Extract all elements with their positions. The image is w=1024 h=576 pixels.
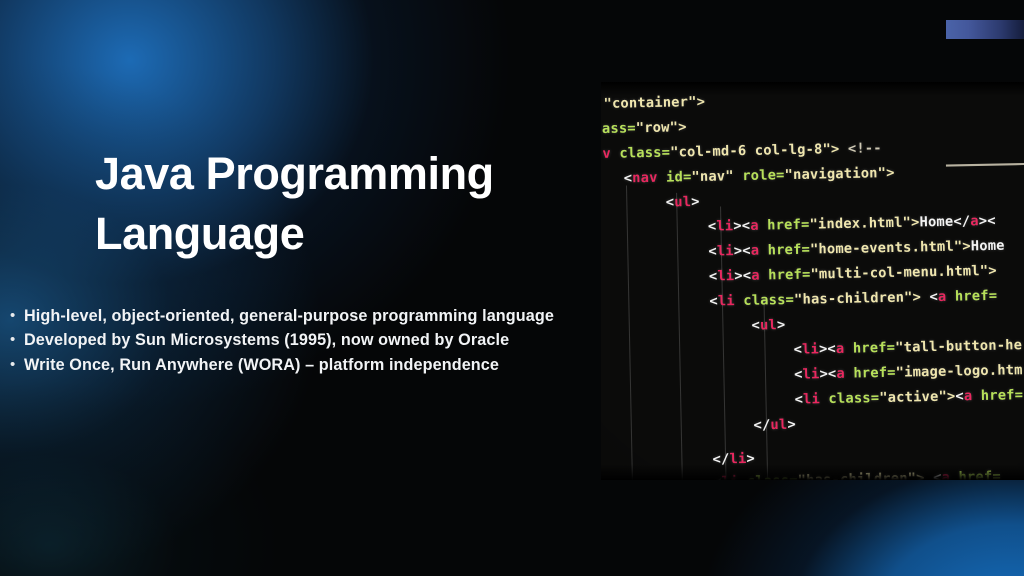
code-line: <ul>: [751, 318, 785, 334]
code-line: <li class="has-children"> <a href=: [709, 288, 997, 309]
code-token: <: [933, 470, 942, 480]
code-token: ul: [674, 195, 691, 211]
code-token: ><: [734, 243, 751, 259]
accent-bar-top-right: [946, 20, 1024, 39]
code-token: li: [721, 474, 747, 480]
code-line: <li><a href="index.html">Home</a><: [708, 213, 996, 234]
code-token: "home-events.html">: [810, 239, 971, 258]
code-line: <li><a href="tall-button-he: [793, 338, 1022, 358]
code-token: "image-logo.htm: [896, 363, 1023, 381]
code-line: <li class="has-children"> <a href=: [713, 469, 1001, 480]
bullet-item: •Developed by Sun Microsystems (1995), n…: [10, 329, 590, 352]
code-token: "tall-button-he: [895, 338, 1022, 356]
code-token: li: [717, 269, 734, 285]
code-token: </: [712, 452, 729, 468]
code-token: ass=: [602, 121, 636, 137]
code-token: "navigation">: [784, 166, 894, 184]
code-token: "nav": [691, 169, 742, 186]
bullet-item: •Write Once, Run Anywhere (WORA) – platf…: [10, 354, 590, 377]
code-line: <li><a href="multi-col-menu.html">: [709, 263, 997, 284]
code-token: a: [836, 341, 853, 357]
code-line: <ul>: [666, 194, 700, 210]
slide-canvas: Java Programming Language •High-level, o…: [0, 0, 1024, 576]
code-photo-content: "container">ass="row">v class="col-md-6 …: [601, 82, 1024, 480]
code-token: role=: [742, 168, 785, 184]
code-indent-guide: [626, 185, 633, 480]
code-token: >: [691, 194, 700, 210]
bullet-marker-icon: •: [10, 354, 24, 377]
code-token: a: [970, 214, 979, 230]
code-token: li: [802, 367, 819, 383]
code-token: "active">: [879, 389, 955, 406]
code-token: href=: [767, 217, 810, 233]
code-token: "has-children">: [794, 290, 930, 308]
code-token: "multi-col-menu.html">: [810, 263, 997, 282]
code-token: class=: [747, 473, 798, 480]
code-token: v: [602, 146, 619, 162]
code-token: ><: [819, 366, 836, 382]
code-token: class=: [619, 145, 670, 162]
code-line: ass="row">: [602, 120, 687, 137]
code-token: a: [751, 243, 768, 259]
code-token: href=: [768, 242, 811, 258]
code-token: a: [836, 366, 853, 382]
bullet-text: Write Once, Run Anywhere (WORA) – platfo…: [24, 354, 590, 377]
code-line: <li><a href="home-events.html">Home: [708, 238, 1005, 260]
code-line: <nav id="nav" role="navigation">: [624, 166, 895, 187]
code-token: "container">: [603, 94, 705, 112]
code-token: ul: [770, 417, 787, 433]
code-token: a: [938, 289, 955, 305]
code-token: "col-md-6 col-lg-8">: [670, 142, 848, 161]
code-token: ><: [734, 268, 751, 284]
code-token: "row">: [636, 120, 687, 137]
code-token: href=: [853, 340, 896, 356]
bullet-list: •High-level, object-oriented, general-pu…: [10, 305, 590, 378]
code-token: <: [929, 290, 938, 306]
code-token: "has-children">: [798, 471, 934, 480]
code-token: li: [718, 293, 744, 309]
comment-underline: [946, 161, 1024, 166]
code-token: class=: [743, 292, 794, 309]
code-token: li: [717, 244, 734, 260]
bullet-text: Developed by Sun Microsystems (1995), no…: [24, 329, 590, 352]
bullet-marker-icon: •: [10, 305, 24, 328]
code-token: nav: [632, 170, 666, 186]
code-token: </: [753, 418, 770, 434]
code-token: ><: [733, 218, 750, 234]
code-token: a: [750, 218, 767, 234]
code-token: a: [751, 268, 768, 284]
code-line: </li>: [712, 451, 755, 467]
page-title: Java Programming Language: [95, 144, 595, 264]
code-token: "index.html">: [809, 215, 919, 233]
code-line: </ul>: [753, 417, 796, 433]
background-glow-bottom-left: [0, 380, 280, 576]
code-token: >: [787, 417, 796, 433]
code-token: ul: [760, 318, 777, 334]
code-token: id=: [666, 170, 692, 186]
code-token: ><: [819, 342, 836, 358]
code-line: <li><a href="image-logo.htm: [794, 363, 1023, 383]
bullet-item: •High-level, object-oriented, general-pu…: [10, 305, 590, 328]
code-token: href=: [955, 288, 998, 304]
code-token: >: [746, 451, 755, 467]
bullet-marker-icon: •: [10, 329, 24, 352]
code-token: li: [802, 342, 819, 358]
code-token: Home</: [919, 214, 970, 231]
code-token: a: [964, 389, 981, 405]
code-line: v class="col-md-6 col-lg-8"> <!--: [602, 141, 882, 162]
code-line: <li class="active"><a href=: [794, 388, 1023, 408]
code-token: li: [803, 392, 829, 408]
code-token: href=: [768, 267, 811, 283]
code-token: a: [941, 470, 958, 480]
code-token: <!--: [848, 141, 882, 157]
code-line: "container">: [603, 94, 705, 112]
bullet-text: High-level, object-oriented, general-pur…: [24, 305, 590, 328]
code-token: href=: [981, 388, 1024, 404]
code-token: Home: [971, 238, 1005, 254]
code-token: li: [716, 219, 733, 235]
code-token: >: [777, 318, 786, 334]
code-token: href=: [853, 365, 896, 381]
code-token: ><: [979, 213, 996, 229]
code-token: href=: [958, 469, 1001, 480]
code-indent-guide: [676, 193, 683, 480]
code-token: class=: [828, 391, 879, 408]
code-token: li: [729, 451, 746, 467]
code-screenshot-photo: "container">ass="row">v class="col-md-6 …: [601, 82, 1024, 480]
code-token: <: [955, 389, 964, 405]
